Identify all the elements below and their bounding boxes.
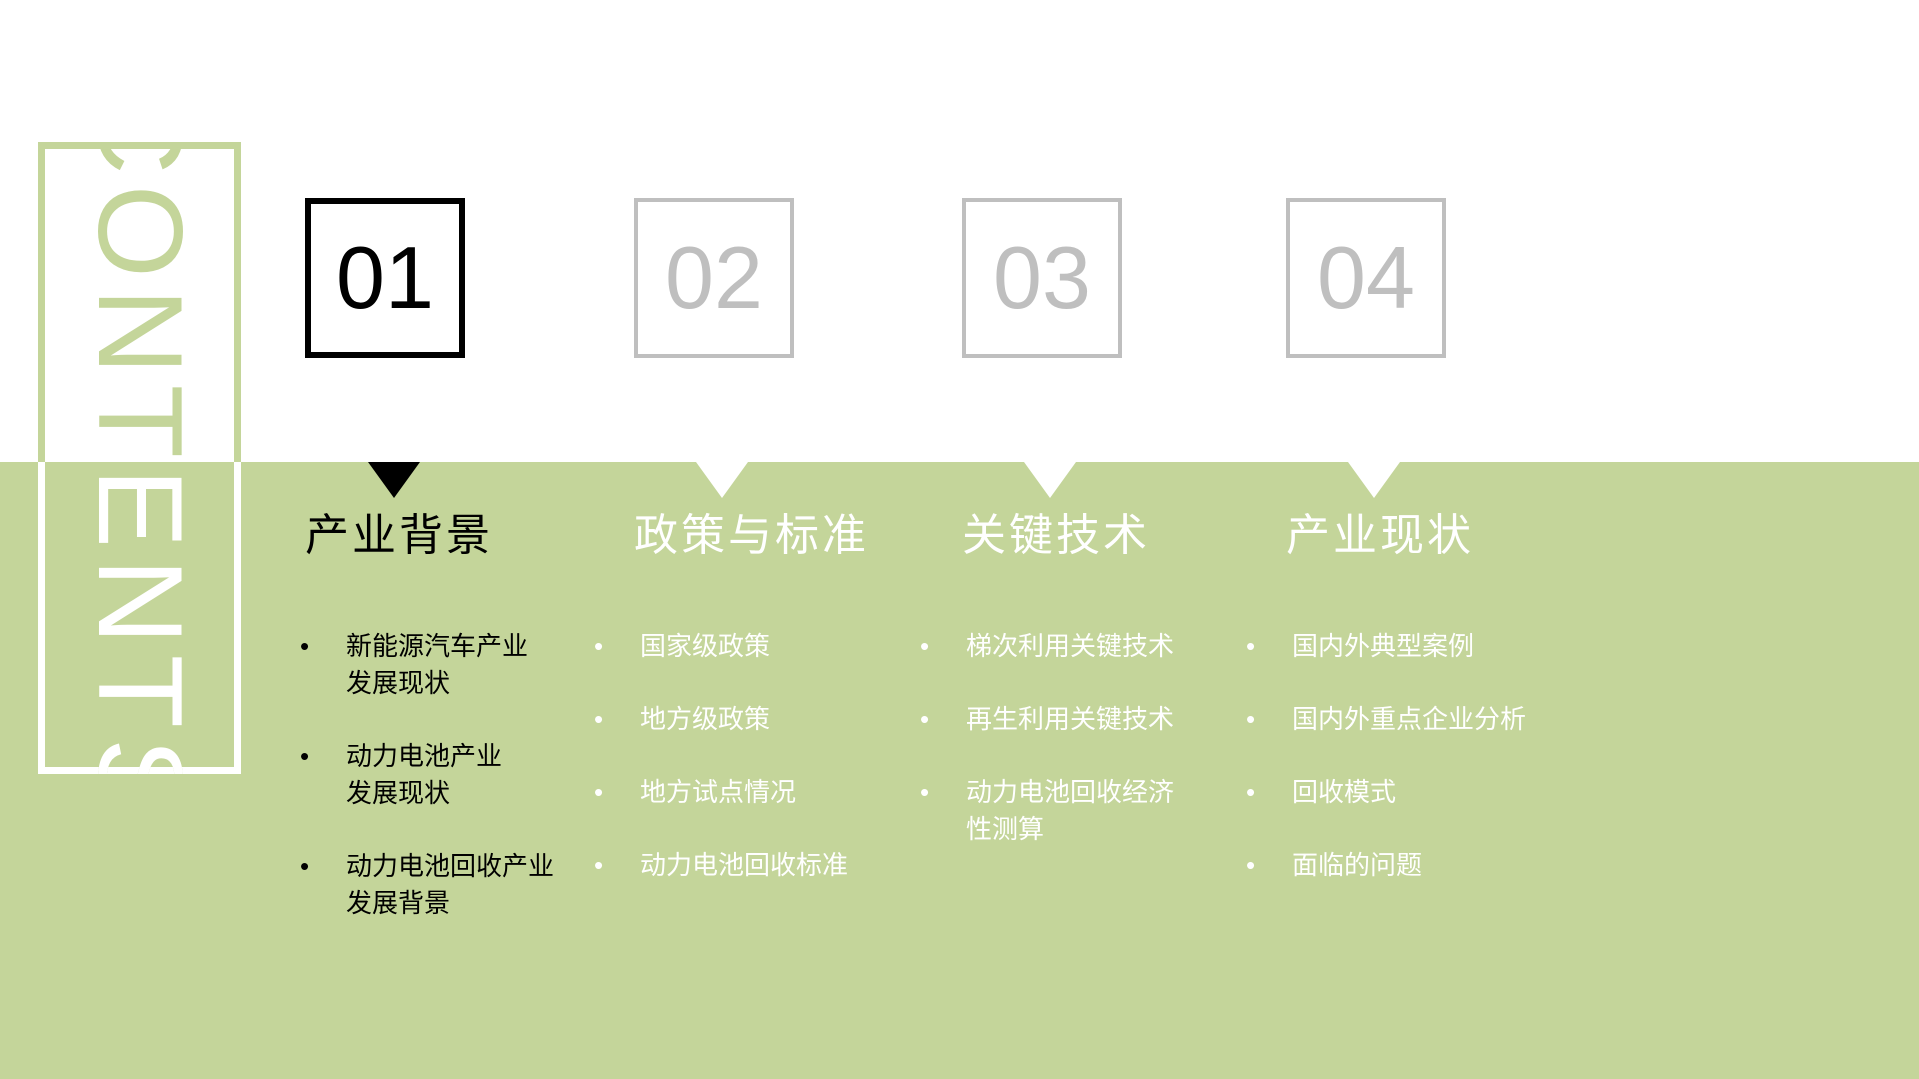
list-item[interactable]: • 国内外典型案例 bbox=[1246, 628, 1626, 665]
bullet-list-04: • 国内外典型案例 • 国内外重点企业分析 • 回收模式 • 面临的问题 bbox=[1246, 628, 1626, 920]
bullet-dot-icon: • bbox=[1246, 701, 1292, 738]
bullet-text: 动力电池产业 发展现状 bbox=[346, 738, 600, 812]
number-label-04: 04 bbox=[1317, 234, 1415, 322]
content-column-02[interactable]: 02 政策与标准 • 国家级政策 • 地方级政策 • 地方试点情况 • 动力电池… bbox=[634, 0, 954, 1079]
bullet-text: 国内外重点企业分析 bbox=[1292, 701, 1626, 738]
number-label-01: 01 bbox=[336, 234, 434, 322]
bullet-list-01: • 新能源汽车产业 发展现状 • 动力电池产业 发展现状 • 动力电池回收产业 … bbox=[300, 628, 600, 957]
bullet-dot-icon: • bbox=[300, 848, 346, 885]
list-item[interactable]: • 地方级政策 bbox=[594, 701, 924, 738]
bullet-dot-icon: • bbox=[1246, 628, 1292, 665]
bullet-dot-icon: • bbox=[594, 774, 640, 811]
bullet-dot-icon: • bbox=[594, 847, 640, 884]
bullet-list-03: • 梯次利用关键技术 • 再生利用关键技术 • 动力电池回收经济 性测算 bbox=[920, 628, 1250, 884]
content-column-01[interactable]: 01 产业背景 • 新能源汽车产业 发展现状 • 动力电池产业 发展现状 • 动… bbox=[300, 0, 620, 1079]
contents-label-white: CONTENTS bbox=[38, 462, 241, 774]
list-item[interactable]: • 国家级政策 bbox=[594, 628, 924, 665]
content-column-04[interactable]: 04 产业现状 • 国内外典型案例 • 国内外重点企业分析 • 回收模式 • 面… bbox=[1286, 0, 1646, 1079]
pointer-triangle-03 bbox=[1024, 462, 1076, 498]
contents-slide: CONTENTS CONTENTS 01 产业背景 • 新能源汽车产业 发展现状… bbox=[0, 0, 1919, 1079]
bullet-text: 地方试点情况 bbox=[640, 774, 924, 811]
bullet-text: 新能源汽车产业 发展现状 bbox=[346, 628, 600, 702]
bullet-dot-icon: • bbox=[920, 628, 966, 665]
bullet-text: 国家级政策 bbox=[640, 628, 924, 665]
bullet-dot-icon: • bbox=[920, 774, 966, 811]
bullet-text: 动力电池回收经济 性测算 bbox=[966, 774, 1250, 848]
bullet-dot-icon: • bbox=[1246, 847, 1292, 884]
bullet-text: 回收模式 bbox=[1292, 774, 1626, 811]
bullet-list-02: • 国家级政策 • 地方级政策 • 地方试点情况 • 动力电池回收标准 bbox=[594, 628, 924, 920]
list-item[interactable]: • 新能源汽车产业 发展现状 bbox=[300, 628, 600, 702]
bullet-text: 面临的问题 bbox=[1292, 847, 1626, 884]
bullet-text: 地方级政策 bbox=[640, 701, 924, 738]
bullet-dot-icon: • bbox=[594, 628, 640, 665]
number-label-02: 02 bbox=[665, 234, 763, 322]
pointer-triangle-04 bbox=[1348, 462, 1400, 498]
bullet-dot-icon: • bbox=[1246, 774, 1292, 811]
list-item[interactable]: • 梯次利用关键技术 bbox=[920, 628, 1250, 665]
bullet-dot-icon: • bbox=[300, 738, 346, 775]
pointer-triangle-01 bbox=[368, 462, 420, 498]
column-title-01: 产业背景 bbox=[305, 512, 493, 560]
list-item[interactable]: • 地方试点情况 bbox=[594, 774, 924, 811]
bullet-dot-icon: • bbox=[300, 628, 346, 665]
bullet-text: 动力电池回收标准 bbox=[640, 847, 924, 884]
bullet-text: 动力电池回收产业 发展背景 bbox=[346, 848, 600, 922]
list-item[interactable]: • 国内外重点企业分析 bbox=[1246, 701, 1626, 738]
pointer-triangle-02 bbox=[696, 462, 748, 498]
list-item[interactable]: • 动力电池回收产业 发展背景 bbox=[300, 848, 600, 922]
list-item[interactable]: • 回收模式 bbox=[1246, 774, 1626, 811]
bullet-text: 梯次利用关键技术 bbox=[966, 628, 1250, 665]
list-item[interactable]: • 动力电池回收标准 bbox=[594, 847, 924, 884]
bullet-text: 再生利用关键技术 bbox=[966, 701, 1250, 738]
list-item[interactable]: • 动力电池产业 发展现状 bbox=[300, 738, 600, 812]
bullet-dot-icon: • bbox=[594, 701, 640, 738]
list-item[interactable]: • 面临的问题 bbox=[1246, 847, 1626, 884]
contents-label-text-white: CONTENTS bbox=[80, 462, 200, 774]
column-title-04: 产业现状 bbox=[1286, 512, 1474, 560]
bullet-dot-icon: • bbox=[920, 701, 966, 738]
bullet-text: 国内外典型案例 bbox=[1292, 628, 1626, 665]
list-item[interactable]: • 再生利用关键技术 bbox=[920, 701, 1250, 738]
column-title-03: 关键技术 bbox=[962, 512, 1150, 560]
list-item[interactable]: • 动力电池回收经济 性测算 bbox=[920, 774, 1250, 848]
number-box-01[interactable]: 01 bbox=[305, 198, 465, 358]
number-box-03[interactable]: 03 bbox=[962, 198, 1122, 358]
column-title-02: 政策与标准 bbox=[634, 512, 869, 560]
content-column-03[interactable]: 03 关键技术 • 梯次利用关键技术 • 再生利用关键技术 • 动力电池回收经济… bbox=[962, 0, 1282, 1079]
number-label-03: 03 bbox=[993, 234, 1091, 322]
number-box-02[interactable]: 02 bbox=[634, 198, 794, 358]
number-box-04[interactable]: 04 bbox=[1286, 198, 1446, 358]
